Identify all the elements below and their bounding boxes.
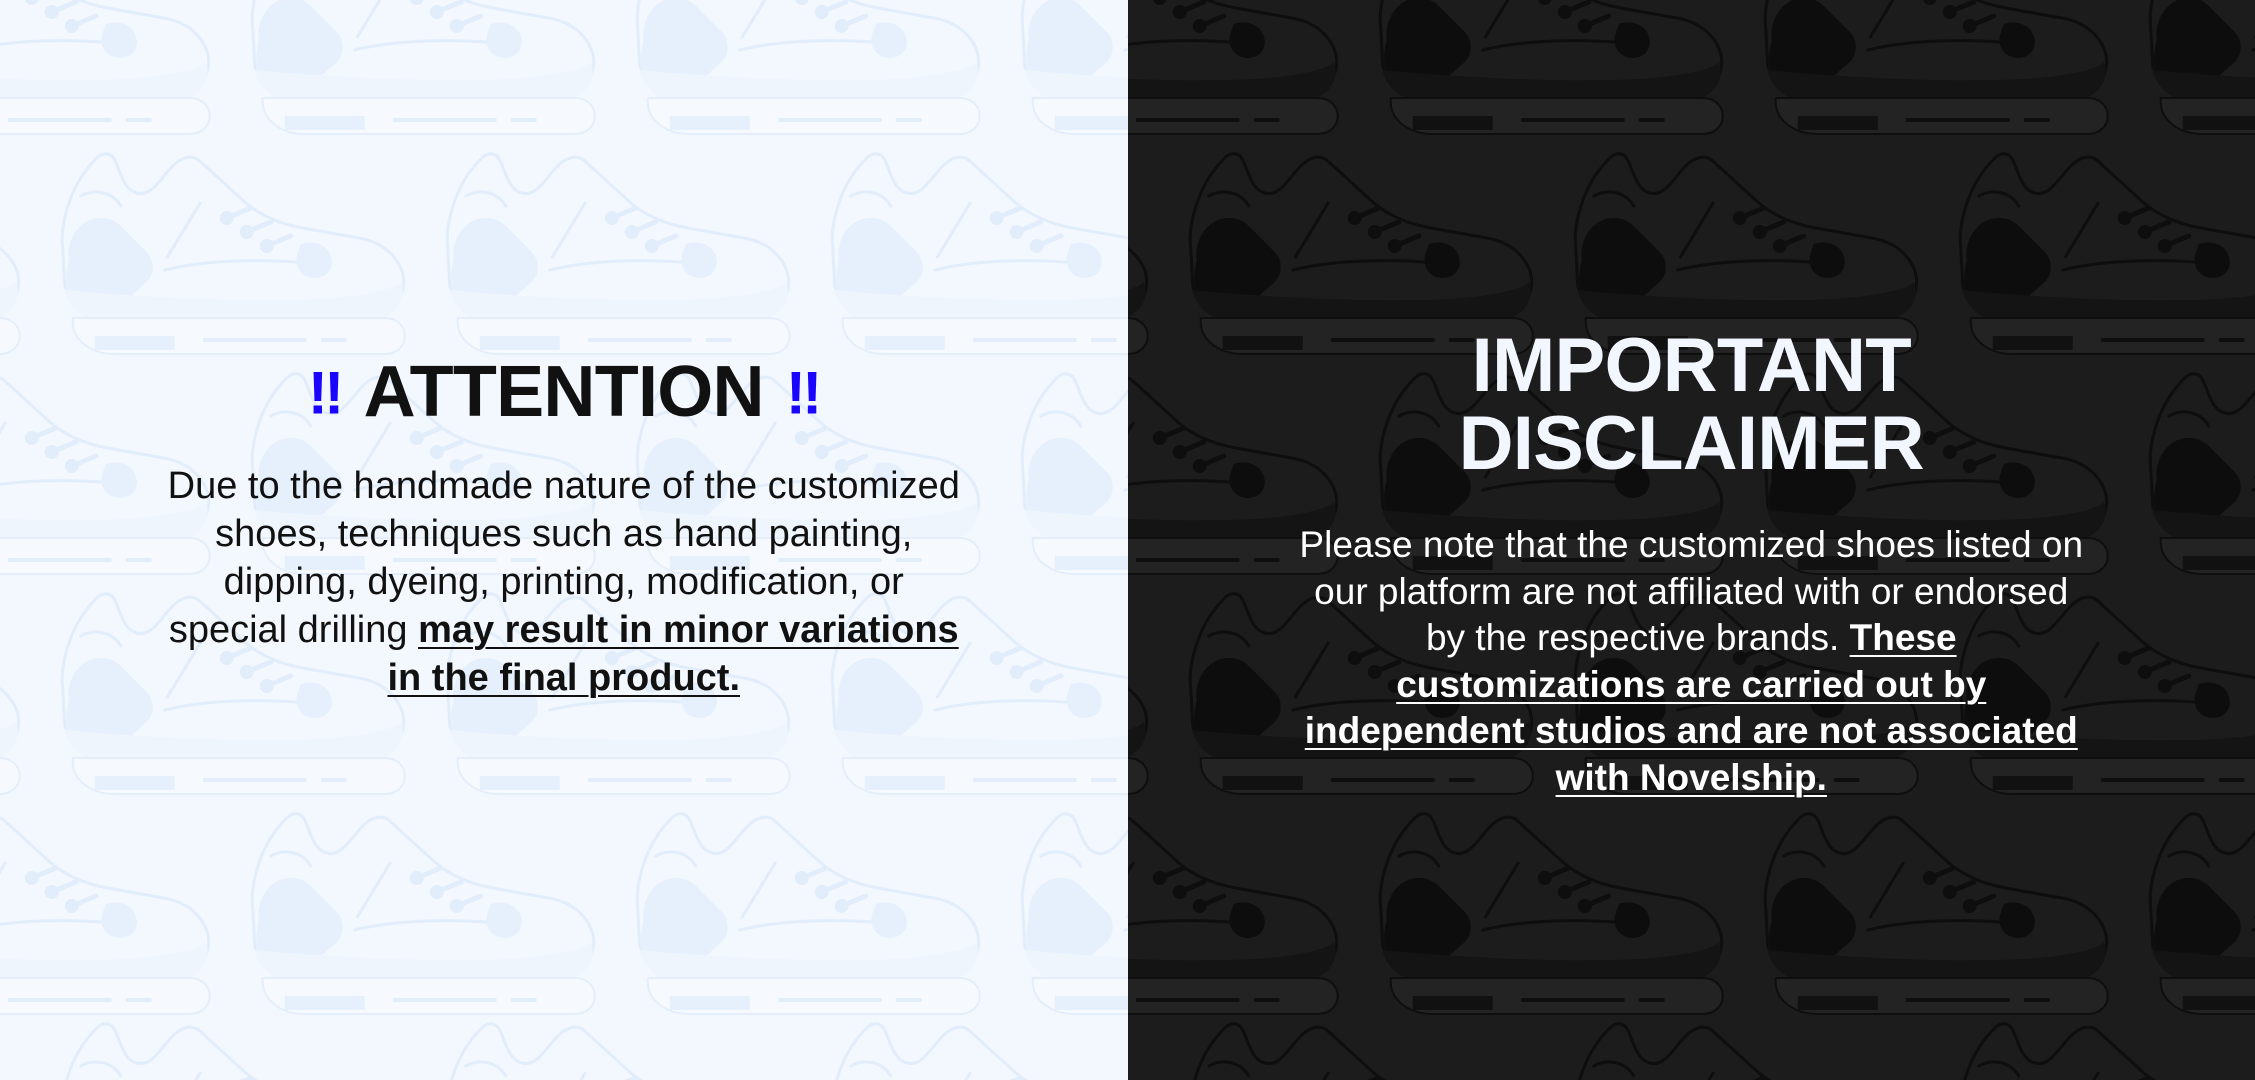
disclaimer-panel: IMPORTANT DISCLAIMER Please note that th… — [1128, 0, 2255, 1080]
attention-panel: ‼ATTENTION‼ Due to the handmade nature o… — [0, 0, 1128, 1080]
attention-body: Due to the handmade nature of the custom… — [164, 463, 964, 702]
disclaimer-heading: IMPORTANT DISCLAIMER — [1311, 327, 2071, 482]
attention-heading: ‼ATTENTION‼ — [0, 356, 1128, 429]
disclaimer-heading-line1: IMPORTANT — [1472, 323, 1911, 408]
attention-content: ‼ATTENTION‼ Due to the handmade nature o… — [0, 356, 1128, 703]
double-exclamation-left-icon: ‼ — [308, 360, 342, 427]
attention-heading-text: ATTENTION — [364, 352, 764, 432]
disclaimer-body: Please note that the customized shoes li… — [1291, 522, 2091, 802]
disclaimer-banner: ‼ATTENTION‼ Due to the handmade nature o… — [0, 0, 2255, 1080]
double-exclamation-right-icon: ‼ — [786, 360, 820, 427]
disclaimer-content: IMPORTANT DISCLAIMER Please note that th… — [1128, 327, 2255, 802]
disclaimer-heading-line2: DISCLAIMER — [1459, 401, 1924, 486]
attention-body-emphasis: may result in minor variations in the fi… — [387, 609, 958, 699]
disclaimer-body-plain: Please note that the customized shoes li… — [1299, 524, 2083, 658]
